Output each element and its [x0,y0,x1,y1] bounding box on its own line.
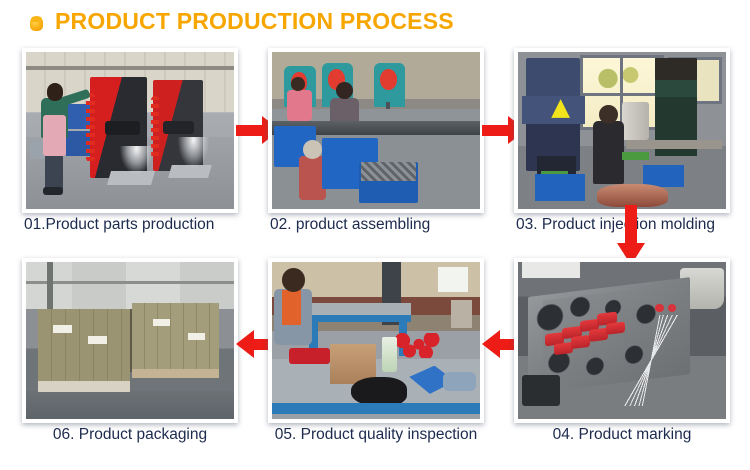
step-04-caption: 04. Product marking [514,426,730,444]
step-05-photo [272,262,480,419]
step-04-photo [518,262,726,419]
step-01-photo-frame [22,48,238,213]
step-03-photo-frame [514,48,730,213]
arrow-3-to-4-icon [617,205,645,265]
page-title: PRODUCT PRODUCTION PROCESS [55,8,454,35]
step-03-photo [518,52,726,209]
page-header: PRODUCT PRODUCTION PROCESS [0,0,750,46]
diamond-bullet-icon [30,18,43,31]
step-01-photo [26,52,234,209]
step-06-photo-frame [22,258,238,423]
step-01-caption: 01.Product parts production [22,216,240,234]
step-05-caption: 05. Product quality inspection [268,426,484,444]
step-02-caption: 02. product assembling [268,216,486,234]
step-06-caption: 06. Product packaging [22,426,238,444]
step-04-photo-frame [514,258,730,423]
step-02-photo-frame [268,48,484,213]
step-06-photo [26,262,234,419]
step-02-photo [272,52,480,209]
step-05-photo-frame [268,258,484,423]
